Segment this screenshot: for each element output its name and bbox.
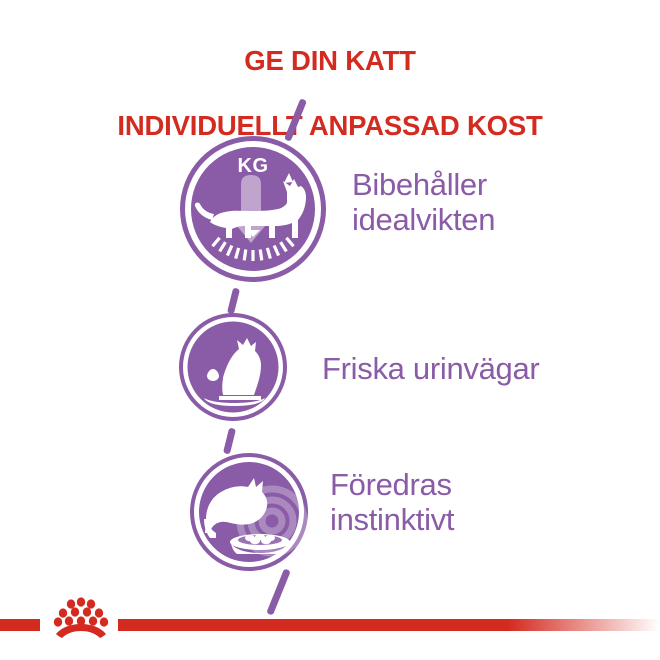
- food-bowl: [230, 534, 290, 554]
- connector-dash-1-2: [227, 288, 240, 315]
- royal-canin-crown-logo-svg: [46, 590, 116, 642]
- benefit-label-weight: Bibehåller idealvikten: [352, 168, 632, 237]
- footer-bar-left: [0, 619, 40, 631]
- aroma-swirl: [240, 489, 304, 553]
- benefit-label-palatability: Föredras instinktivt: [330, 468, 630, 537]
- scale-dial: [211, 237, 294, 261]
- palatability-icon: [190, 453, 308, 571]
- urinary-health-icon: [179, 313, 287, 421]
- footer-bar-right: [118, 619, 660, 631]
- cat-eating-silhouette: [204, 478, 267, 538]
- sitting-cat-silhouette: [204, 338, 265, 406]
- promotional-poster: GE DIN KATT INDIVIDUELLT ANPASSAD KOST K…: [0, 0, 660, 660]
- dial-pointer: [246, 230, 260, 237]
- page-title: GE DIN KATT INDIVIDUELLT ANPASSAD KOST: [0, 13, 660, 175]
- urinary-health-icon-svg: [179, 313, 287, 421]
- headline-line-2: INDIVIDUELLT ANPASSAD KOST: [0, 110, 660, 142]
- royal-canin-crown-logo: [46, 590, 116, 642]
- palatability-icon-svg: [190, 453, 308, 571]
- headline-line-1: GE DIN KATT: [0, 45, 660, 77]
- cat-silhouette: [195, 173, 306, 238]
- connector-dash-bottom: [266, 568, 290, 615]
- benefit-label-urinary: Friska urinvägar: [322, 352, 632, 387]
- connector-dash-2-3: [223, 428, 236, 455]
- down-arrow: [232, 175, 270, 243]
